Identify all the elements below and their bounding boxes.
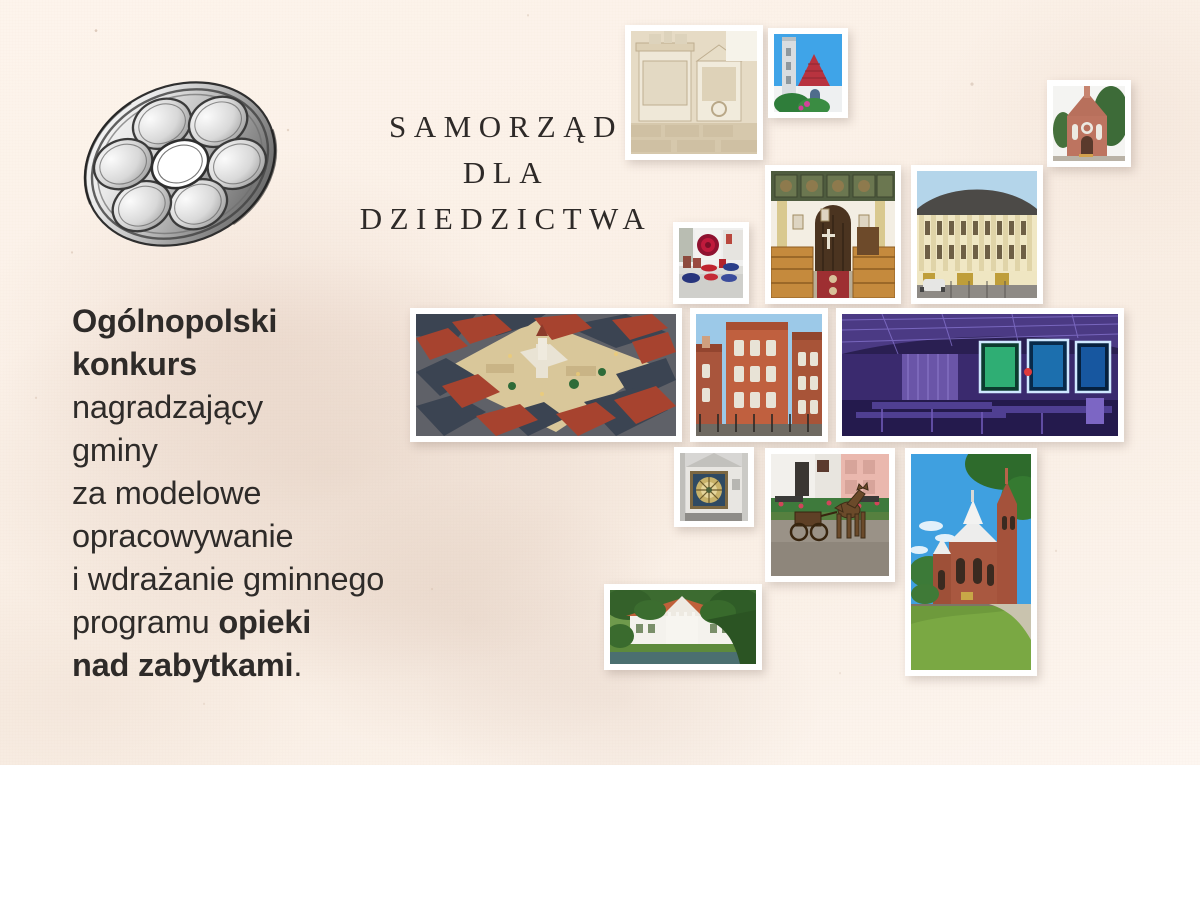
photo-illuminated-industrial-hall-exhibition (836, 308, 1124, 442)
samorzad-dla-dziedzictwa-disc-emblem (72, 78, 288, 250)
photo-red-brick-factory (690, 308, 828, 442)
photo-white-church-with-tower (768, 28, 848, 118)
photo-church-interior-nave-pews (765, 165, 901, 304)
photo-modernist-cream-building (911, 165, 1043, 304)
photo-museum-ceramics-display (673, 222, 749, 304)
footer: Partner konkursu Patron konkursu Narodow… (0, 765, 1200, 900)
headline-line-9: nad zabytkami. (72, 644, 502, 687)
photo-bronze-horse-cart-sculpture (765, 448, 895, 582)
photo-red-brick-church-with-lawn (905, 448, 1037, 676)
headline-line-7: i wdrażanie gminnego (72, 558, 502, 601)
photo-manor-house-by-river (604, 584, 762, 670)
photo-aerial-old-town-market-square (410, 308, 682, 442)
poster-root: SAMORZĄD DLA DZIEDZICTWA Ogólnopolski ko… (0, 0, 1200, 900)
photo-brick-gothic-church-facade (1047, 80, 1131, 167)
headline-line-6: opracowywanie (72, 515, 502, 558)
photo-stone-epitaph-plaques (625, 25, 763, 160)
headline-line-5: za modelowe (72, 472, 502, 515)
brand-lockup: SAMORZĄD DLA DZIEDZICTWA (72, 78, 632, 253)
photo-painted-sundial-clock (674, 447, 754, 527)
headline-line-8: programu opieki (72, 601, 502, 644)
brand-title-line-3: DZIEDZICTWA (320, 196, 692, 242)
